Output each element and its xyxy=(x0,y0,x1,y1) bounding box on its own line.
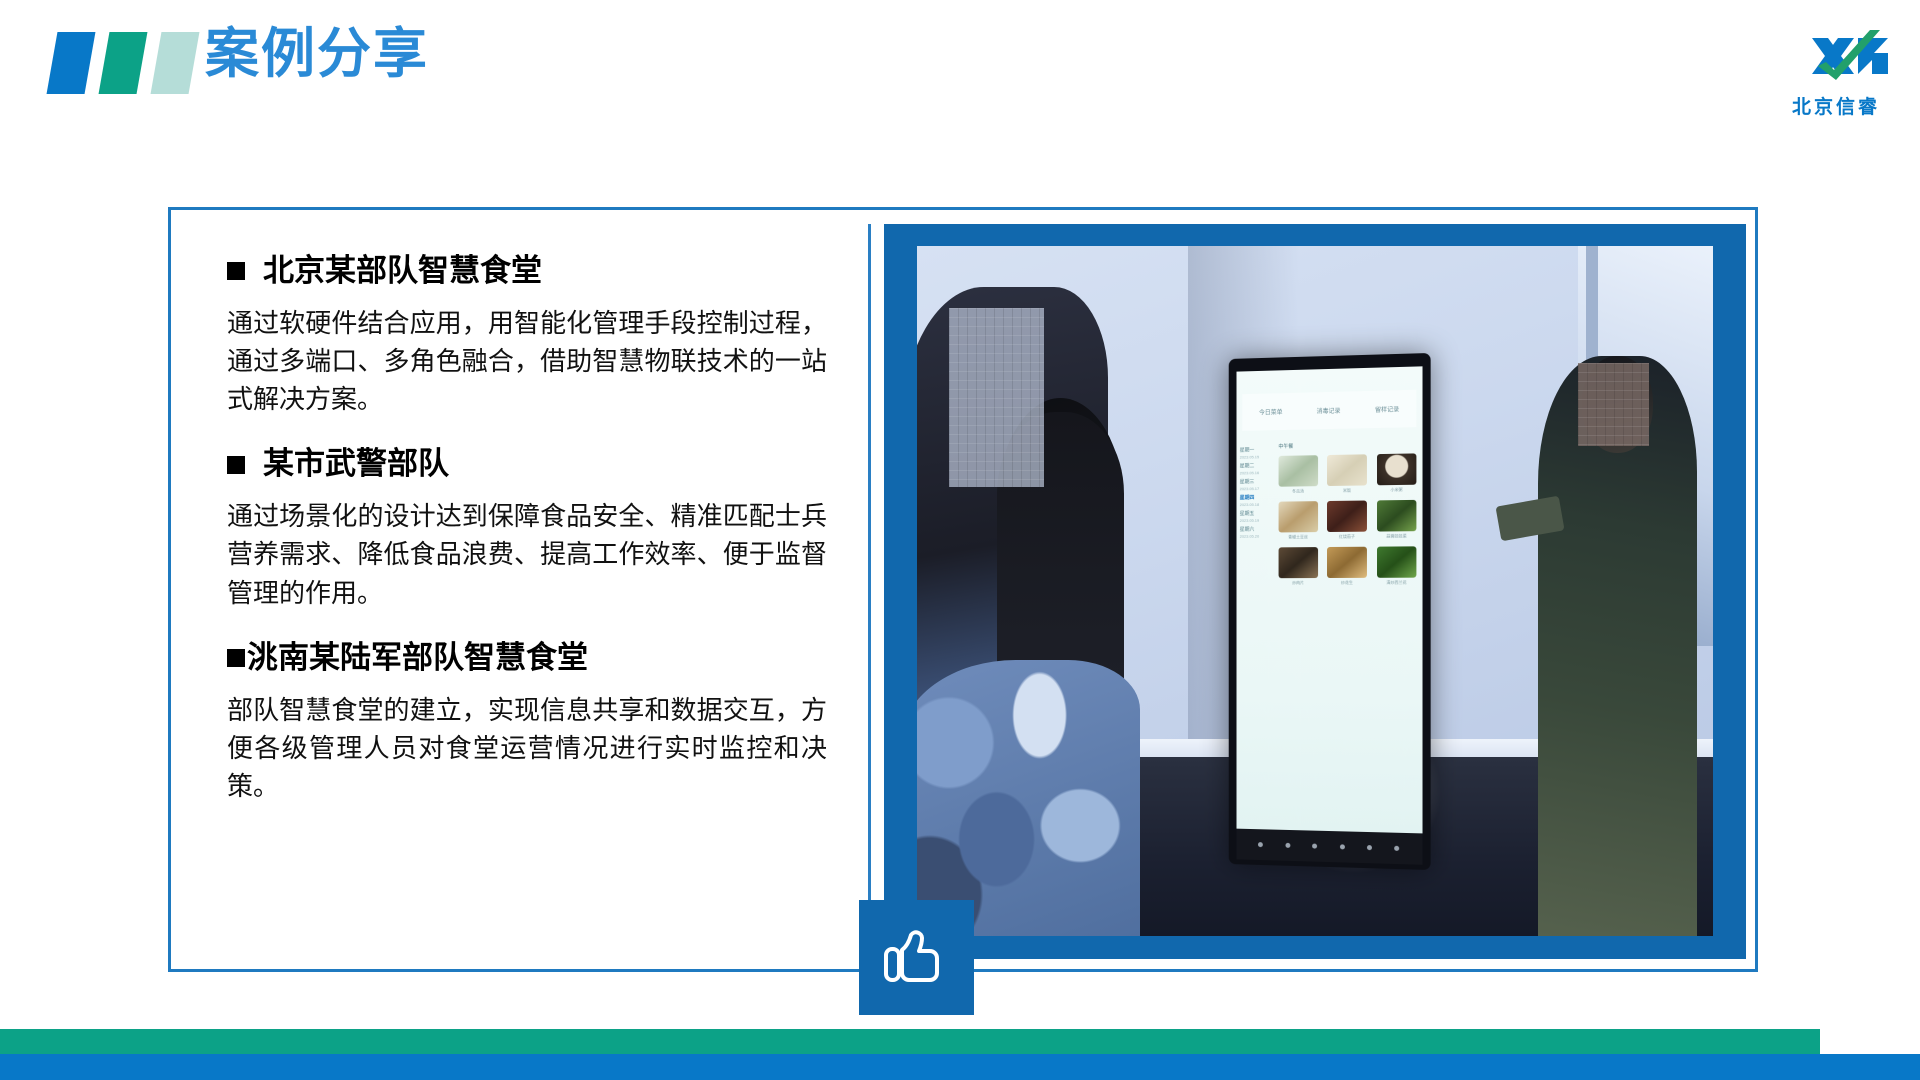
case-heading-2-label: 某市武警部队 xyxy=(263,445,449,484)
kiosk-day-item: 星期六 2023.05.20 xyxy=(1240,527,1273,540)
bullet-square-icon xyxy=(227,262,245,280)
dish-thumbnail xyxy=(1279,501,1318,532)
card-divider xyxy=(868,224,871,959)
dish-thumbnail xyxy=(1377,546,1417,577)
accent-bars xyxy=(48,32,200,94)
accent-bar-blue xyxy=(47,32,96,94)
logo-text: 北京信睿 xyxy=(1776,92,1896,119)
kiosk-camera-icon xyxy=(1395,846,1400,851)
kiosk-back-icon xyxy=(1286,843,1291,848)
page-title: 案例分享 xyxy=(205,27,429,81)
kiosk-tab-0: 今日菜单 xyxy=(1259,408,1283,417)
kiosk-day-date: 2023.05.18 xyxy=(1240,502,1273,508)
kiosk-body: 星期一 2023.05.15 星期二 2023.05.16 星期三 2023.0… xyxy=(1237,437,1423,836)
dish-thumbnail xyxy=(1377,500,1417,532)
kiosk-dish-cell: 红烧茄子 xyxy=(1328,501,1368,540)
kiosk-screen: 今日菜单 消毒记录 留样记录 星期一 2023.05.15 星期二 xyxy=(1237,366,1423,836)
case-heading-1-label: 北京某部队智慧食堂 xyxy=(263,252,542,291)
case-heading-1: 北京某部队智慧食堂 xyxy=(227,252,827,291)
thumbs-up-badge xyxy=(859,900,974,1015)
kiosk-dish-cell: 米饭 xyxy=(1328,454,1368,494)
dish-thumbnail xyxy=(1377,453,1417,485)
case-body-2: 通过场景化的设计达到保障食品安全、精准匹配士兵营养需求、降低食品浪费、提高工作效… xyxy=(227,498,827,613)
case-heading-3: 洮南某陆军部队智慧食堂 xyxy=(227,639,827,678)
kiosk-dish-cell: 青椒土豆丝 xyxy=(1279,501,1318,540)
company-logo: 北京信睿 xyxy=(1776,22,1896,118)
footer-teal-bar xyxy=(0,1029,1820,1056)
kiosk-day-date: 2023.05.17 xyxy=(1240,486,1273,492)
smart-canteen-kiosk: 今日菜单 消毒记录 留样记录 星期一 2023.05.15 星期二 xyxy=(1229,353,1431,870)
kiosk-day-date: 2023.05.20 xyxy=(1240,534,1273,540)
case-body-3: 部队智慧食堂的建立，实现信息共享和数据交互，方便各级管理人员对食堂运营情况进行实… xyxy=(227,692,827,807)
kiosk-day-date: 2023.05.19 xyxy=(1240,518,1273,524)
kiosk-dish-cell: 清炒西兰花 xyxy=(1377,546,1417,585)
dish-name: 青椒土豆丝 xyxy=(1279,534,1318,540)
kiosk-dish-cell: 炒肉片 xyxy=(1279,547,1318,586)
dish-name: 清炒西兰花 xyxy=(1377,580,1417,586)
dish-name: 炒肉片 xyxy=(1279,580,1318,586)
kiosk-dish-cell: 小米粥 xyxy=(1377,453,1417,493)
bullet-square-icon xyxy=(227,456,245,474)
kiosk-tab-bar: 今日菜单 消毒记录 留样记录 xyxy=(1243,390,1418,431)
case-body-1: 通过软硬件结合应用，用智能化管理手段控制过程，通过多端口、多角色融合，借助智慧物… xyxy=(227,305,827,420)
case-heading-3-label: 洮南某陆军部队智慧食堂 xyxy=(247,639,588,678)
dish-thumbnail xyxy=(1328,501,1368,532)
case-photo: 今日菜单 消毒记录 留样记录 星期一 2023.05.15 星期二 xyxy=(917,246,1713,936)
kiosk-volume-icon xyxy=(1367,845,1372,850)
case-section-2: 某市武警部队 通过场景化的设计达到保障食品安全、精准匹配士兵营养需求、降低食品浪… xyxy=(227,445,827,612)
dish-thumbnail xyxy=(1328,547,1368,578)
content-card: 北京某部队智慧食堂 通过软硬件结合应用，用智能化管理手段控制过程，通过多端口、多… xyxy=(168,207,1758,972)
photo-pixelation-right xyxy=(1578,363,1650,446)
dish-name: 炒花生 xyxy=(1328,580,1368,586)
kiosk-tab-1: 消毒记录 xyxy=(1317,406,1341,416)
dish-thumbnail xyxy=(1328,454,1368,486)
kiosk-dish-cell: 冬瓜汤 xyxy=(1279,455,1318,494)
logo-mark-icon xyxy=(1776,22,1896,92)
photo-pixelation-left xyxy=(949,308,1045,487)
kiosk-power-icon xyxy=(1259,842,1264,847)
kiosk-home-icon xyxy=(1313,844,1318,849)
dish-name: 小米粥 xyxy=(1377,487,1417,494)
kiosk-day-item: 星期一 2023.05.15 xyxy=(1240,447,1273,460)
footer-blue-bar xyxy=(0,1054,1920,1080)
kiosk-day-item: 星期二 2023.05.16 xyxy=(1240,463,1273,476)
kiosk-menu-title: 中午餐 xyxy=(1279,441,1417,451)
kiosk-menu-panel: 中午餐 冬瓜汤 米饭 xyxy=(1275,437,1423,836)
dish-name: 蒜蓉娃娃菜 xyxy=(1377,533,1417,539)
text-column: 北京某部队智慧食堂 通过软硬件结合应用，用智能化管理手段控制过程，通过多端口、多… xyxy=(227,252,827,832)
thumbs-up-icon xyxy=(883,927,951,989)
photo-person-camo-jacket xyxy=(917,660,1140,936)
kiosk-day-date: 2023.05.16 xyxy=(1240,470,1273,476)
dish-thumbnail xyxy=(1279,547,1318,578)
photo-frame: 今日菜单 消毒记录 留样记录 星期一 2023.05.15 星期二 xyxy=(884,224,1746,959)
kiosk-day-date: 2023.05.15 xyxy=(1240,454,1273,460)
dish-thumbnail xyxy=(1279,455,1318,486)
kiosk-dish-cell: 炒花生 xyxy=(1328,547,1368,586)
kiosk-tab-2: 留样记录 xyxy=(1375,405,1399,415)
kiosk-day-item: 星期四 2023.05.18 xyxy=(1240,495,1273,508)
kiosk-dish-cell: 蒜蓉娃娃菜 xyxy=(1377,500,1417,540)
page-header: 案例分享 北京信睿 xyxy=(0,0,1920,150)
dish-name: 冬瓜汤 xyxy=(1279,488,1318,495)
kiosk-menu-icon xyxy=(1340,844,1345,849)
case-section-1: 北京某部队智慧食堂 通过软硬件结合应用，用智能化管理手段控制过程，通过多端口、多… xyxy=(227,252,827,419)
case-heading-2: 某市武警部队 xyxy=(227,445,827,484)
kiosk-day-item: 星期三 2023.05.17 xyxy=(1240,479,1273,492)
accent-bar-teal xyxy=(99,32,148,94)
case-section-3: 洮南某陆军部队智慧食堂 部队智慧食堂的建立，实现信息共享和数据交互，方便各级管理… xyxy=(227,639,827,806)
dish-name: 红烧茄子 xyxy=(1328,534,1368,540)
bullet-square-icon xyxy=(227,649,245,667)
kiosk-day-item: 星期五 2023.05.19 xyxy=(1240,511,1273,524)
kiosk-dish-grid: 冬瓜汤 米饭 小米粥 xyxy=(1279,453,1417,572)
kiosk-bottom-bar xyxy=(1237,829,1423,865)
accent-bar-pale xyxy=(151,32,200,94)
dish-name: 米饭 xyxy=(1328,487,1368,494)
kiosk-day-list: 星期一 2023.05.15 星期二 2023.05.16 星期三 2023.0… xyxy=(1237,440,1275,832)
